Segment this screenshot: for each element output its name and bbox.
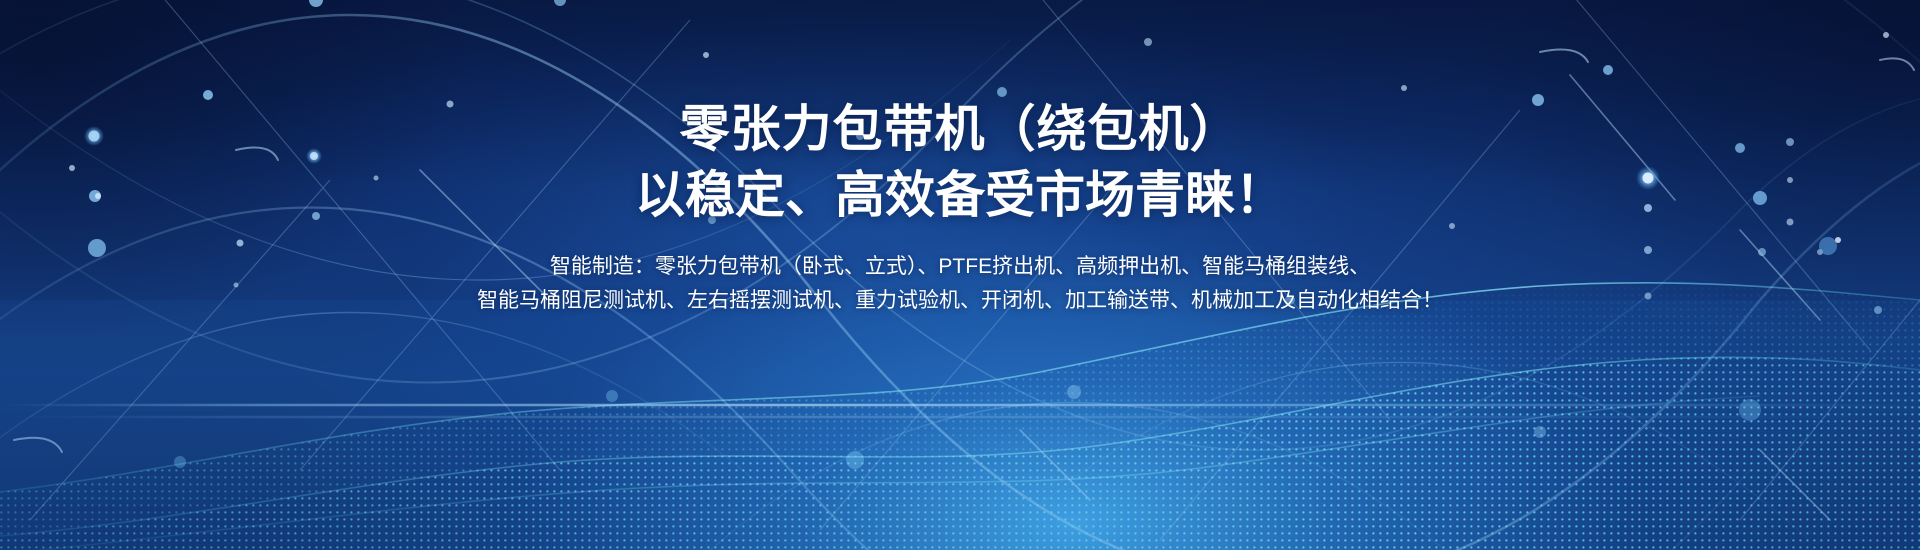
banner-content: 零张力包带机（绕包机） 以稳定、高效备受市场青睐！ 智能制造：零张力包带机（卧式… xyxy=(0,0,1920,550)
promo-banner: 零张力包带机（绕包机） 以稳定、高效备受市场青睐！ 智能制造：零张力包带机（卧式… xyxy=(0,0,1920,550)
headline-line-2: 以稳定、高效备受市场青睐！ xyxy=(635,162,1285,228)
subtitle-block: 智能制造：零张力包带机（卧式、立式）、PTFE挤出机、高频押出机、智能马桶组装线… xyxy=(477,250,1443,318)
headline-line-1: 零张力包带机（绕包机） xyxy=(680,96,1241,162)
subtitle-line-1: 智能制造：零张力包带机（卧式、立式）、PTFE挤出机、高频押出机、智能马桶组装线… xyxy=(477,250,1443,284)
subtitle-line-2: 智能马桶阻尼测试机、左右摇摆测试机、重力试验机、开闭机、加工输送带、机械加工及自… xyxy=(477,284,1443,318)
